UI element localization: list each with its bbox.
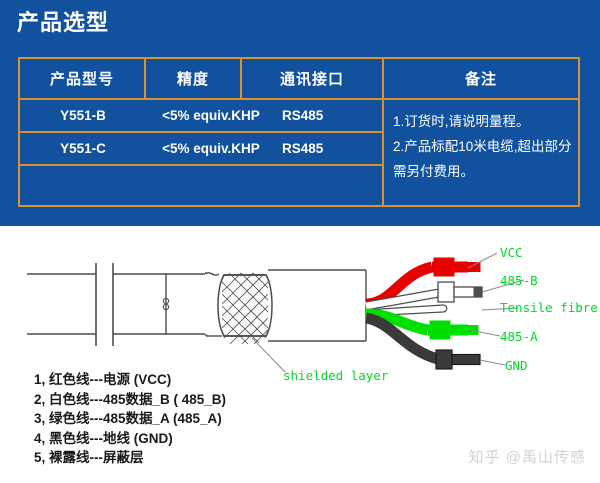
table-row: Y551-B <5% equiv.KHP RS485 xyxy=(20,100,384,133)
label-vcc: VCC xyxy=(500,245,523,260)
connector-vcc xyxy=(434,258,454,276)
cable-body-left xyxy=(27,274,96,334)
column-header-model: 产品型号 xyxy=(20,59,146,98)
wire-color-legend: 1, 红色线---电源 (VCC) 2, 白色线---485数据_B ( 485… xyxy=(34,370,226,468)
label-tensile-fibre: Tensile fibre xyxy=(500,300,598,315)
zhihu-watermark: 知乎 @禹山传感 xyxy=(469,446,586,467)
connector-485a xyxy=(430,321,450,339)
connector-gnd-pin xyxy=(452,355,480,365)
cell-comm-interface: RS485 xyxy=(276,100,384,131)
label-485a: 485-A xyxy=(500,329,538,344)
label-gnd: GND xyxy=(505,358,528,373)
list-item: 1, 红色线---电源 (VCC) xyxy=(34,370,226,390)
cell-model xyxy=(20,166,146,205)
remark-line-2: 2.产品标配10米电缆,超出部分需另付费用。 xyxy=(393,134,572,184)
connector-gnd xyxy=(436,350,452,369)
table-row: Y551-C <5% equiv.KHP RS485 xyxy=(20,133,384,166)
shield-braid-section xyxy=(205,260,288,352)
connector-485b-tip xyxy=(474,287,482,297)
cell-model: Y551-B xyxy=(20,100,146,131)
list-item: 5, 裸露线---屏蔽层 xyxy=(34,448,226,468)
list-item: 2, 白色线---485数据_B ( 485_B) xyxy=(34,390,226,410)
label-shielded-layer: shielded layer xyxy=(283,368,389,383)
product-selection-panel: 产品选型 产品型号 精度 通讯接口 备注 Y551-B <5% equiv.KH… xyxy=(0,0,600,226)
table-row-empty xyxy=(20,166,384,205)
product-spec-table: 产品型号 精度 通讯接口 备注 Y551-B <5% equiv.KHP RS4… xyxy=(18,57,580,207)
cell-comm-interface: RS485 xyxy=(276,133,384,164)
label-485b: 485-B xyxy=(500,273,538,288)
table-header-row: 产品型号 精度 通讯接口 备注 xyxy=(20,59,578,100)
column-header-comm-interface: 通讯接口 xyxy=(242,59,384,98)
connector-485b xyxy=(438,282,454,302)
cell-accuracy xyxy=(146,166,276,205)
remark-line-1: 1.订货时,请说明量程。 xyxy=(393,109,572,134)
column-header-remark: 备注 xyxy=(384,59,578,98)
cell-remark: 1.订货时,请说明量程。 2.产品标配10米电缆,超出部分需另付费用。 xyxy=(384,100,578,205)
page-title: 产品选型 xyxy=(17,8,109,38)
connector-485a-pin xyxy=(450,326,478,335)
list-item: 4, 黑色线---地线 (GND) xyxy=(34,429,226,449)
list-item: 3, 绿色线---485数据_A (485_A) xyxy=(34,409,226,429)
cell-accuracy: <5% equiv.KHP xyxy=(146,133,276,164)
cell-comm-interface xyxy=(276,166,384,205)
column-header-accuracy: 精度 xyxy=(146,59,242,98)
cell-accuracy: <5% equiv.KHP xyxy=(146,100,276,131)
cell-model: Y551-C xyxy=(20,133,146,164)
